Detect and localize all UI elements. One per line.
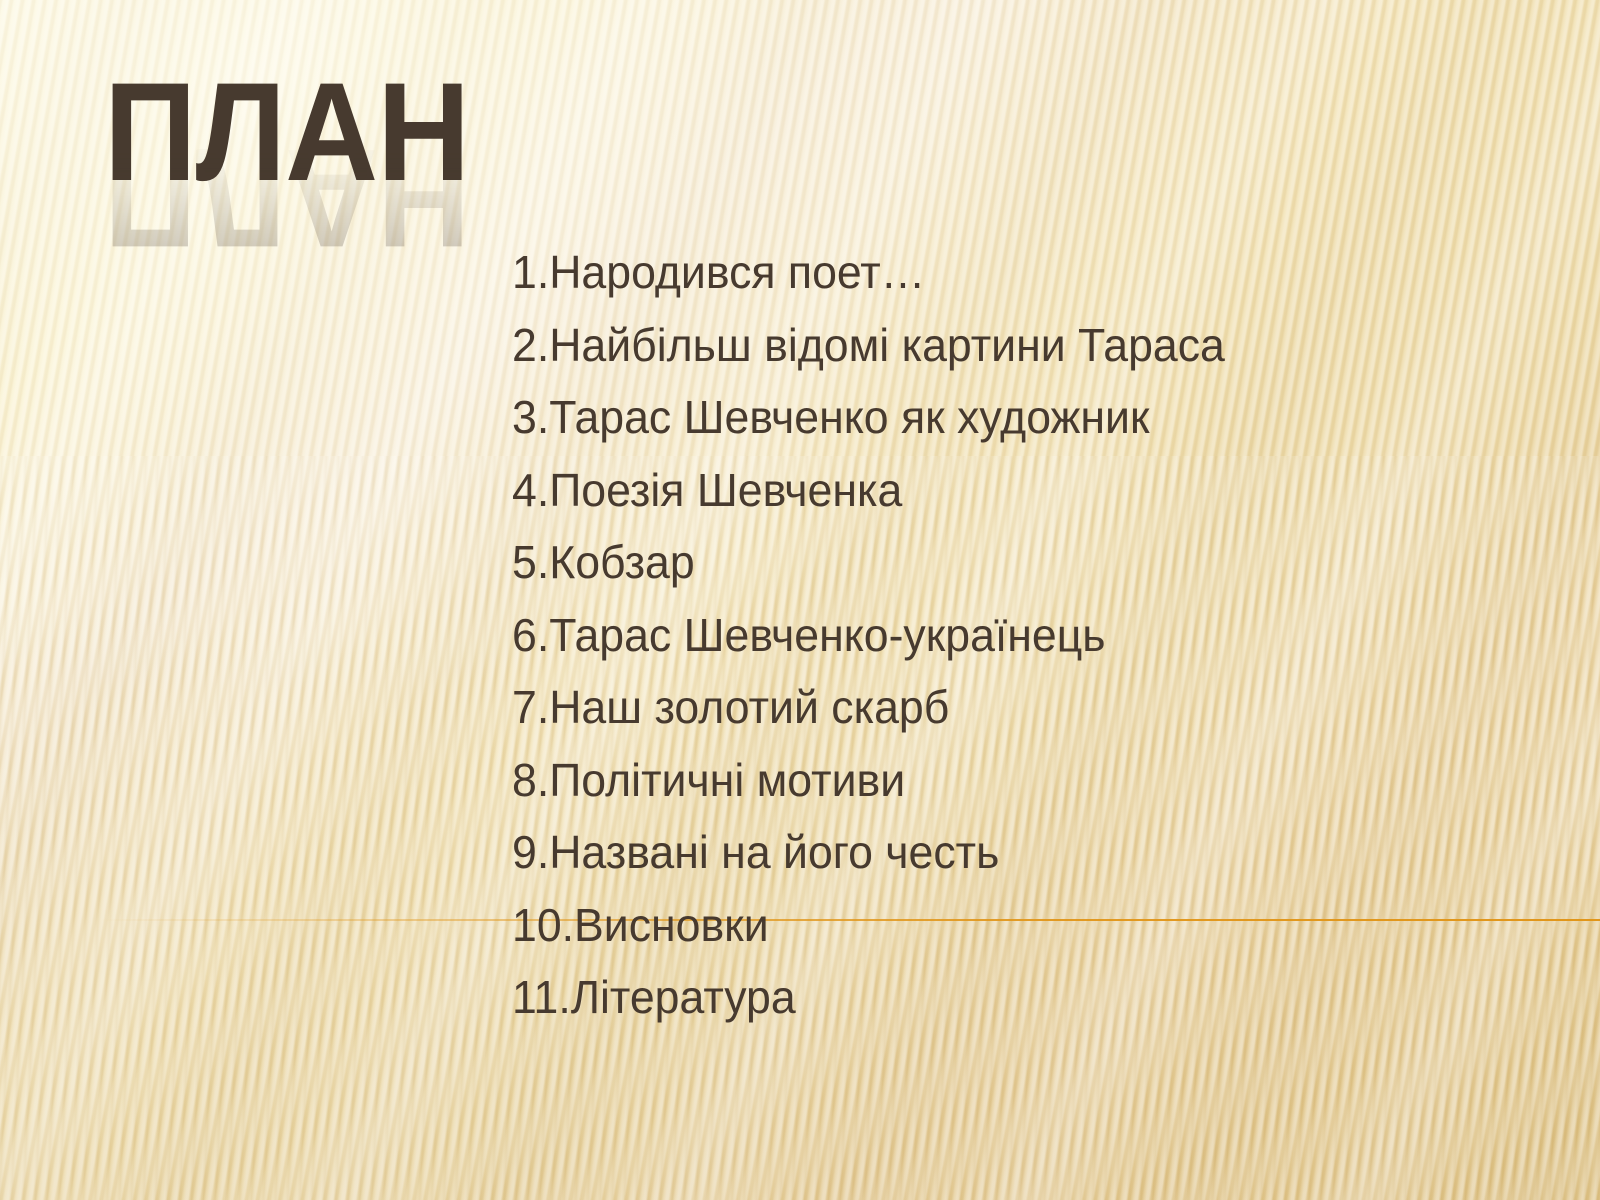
list-item: 4.Поезія Шевченка xyxy=(512,454,1540,527)
list-item: 2.Найбільш відомі картини Тараса xyxy=(512,309,1540,382)
list-item: 11.Література xyxy=(512,961,1540,1034)
list-item: 10.Висновки xyxy=(512,889,1540,962)
list-item: 8.Політичні мотиви xyxy=(512,744,1540,817)
list-item: 6.Тарас Шевченко-українець xyxy=(512,599,1540,672)
list-item: 7.Наш золотий скарб xyxy=(512,671,1540,744)
plan-list: 1.Народився поет… 2.Найбільш відомі карт… xyxy=(512,236,1572,1034)
list-item: 5.Кобзар xyxy=(512,526,1540,599)
presentation-slide: ПЛАН ПЛАН 1.Народився поет… 2.Найбільш в… xyxy=(0,0,1600,1200)
slide-title: ПЛАН xyxy=(104,62,469,202)
list-item: 3.Тарас Шевченко як художник xyxy=(512,381,1540,454)
list-item: 9.Названі на його честь xyxy=(512,816,1540,889)
list-item: 1.Народився поет… xyxy=(512,236,1540,309)
